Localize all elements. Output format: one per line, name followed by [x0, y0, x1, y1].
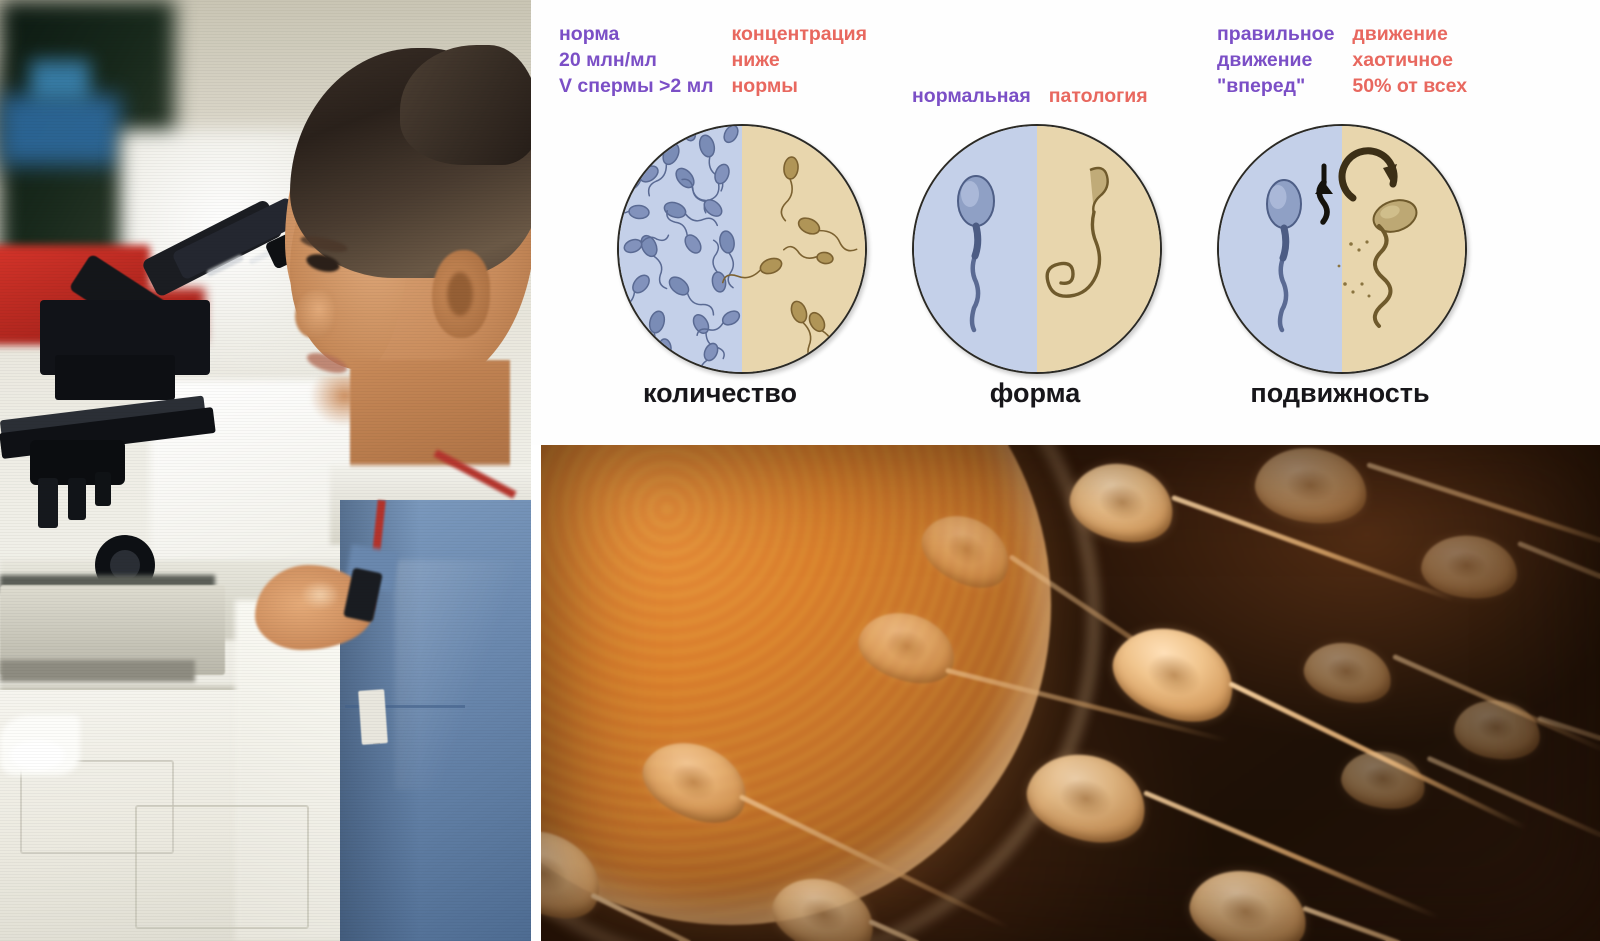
quantity-pathology-label: концентрация ниже нормы — [732, 22, 867, 100]
form-sperm-icons — [914, 126, 1160, 372]
straight-arrow-up-icon — [1315, 166, 1333, 222]
quantity-disk[interactable] — [617, 124, 867, 374]
motility-disk[interactable] — [1217, 124, 1467, 374]
circular-arrow-icon — [1342, 151, 1397, 198]
sperm-photo-vignette — [541, 445, 1600, 941]
photo-sperm-ovum — [541, 445, 1600, 941]
photo-microscope-lab — [0, 0, 531, 941]
motility-labels: правильное движение "вперед" движение ха… — [1217, 22, 1467, 100]
abnormal-coiled-sperm-icon — [1047, 168, 1108, 296]
abnormal-motility-sperm-icon — [1338, 195, 1421, 326]
form-pathology-label: патология — [1049, 84, 1148, 110]
form-labels: нормальная патология — [912, 84, 1148, 110]
form-caption: форма — [885, 378, 1185, 409]
photo-grain-overlay — [0, 0, 531, 941]
motility-normal-label: правильное движение "вперед" — [1217, 22, 1334, 100]
normal-sperm-icon — [958, 176, 994, 330]
form-disk[interactable] — [912, 124, 1162, 374]
quantity-labels: норма 20 млн/мл V спермы >2 мл концентра… — [559, 22, 867, 100]
motility-icons — [1219, 126, 1465, 372]
normal-sperm-icon — [1267, 180, 1301, 330]
quantity-caption: количество — [570, 378, 870, 409]
quantity-normal-label: норма 20 млн/мл V спермы >2 мл — [559, 22, 714, 100]
motility-caption: подвижность — [1190, 378, 1490, 409]
motility-pathology-label: движение хаотичное 50% от всех — [1352, 22, 1467, 100]
form-normal-label: нормальная — [912, 84, 1031, 110]
spermogram-diagram: норма 20 млн/мл V спермы >2 мл концентра… — [531, 0, 1600, 445]
quantity-sperm-icons — [619, 126, 865, 372]
